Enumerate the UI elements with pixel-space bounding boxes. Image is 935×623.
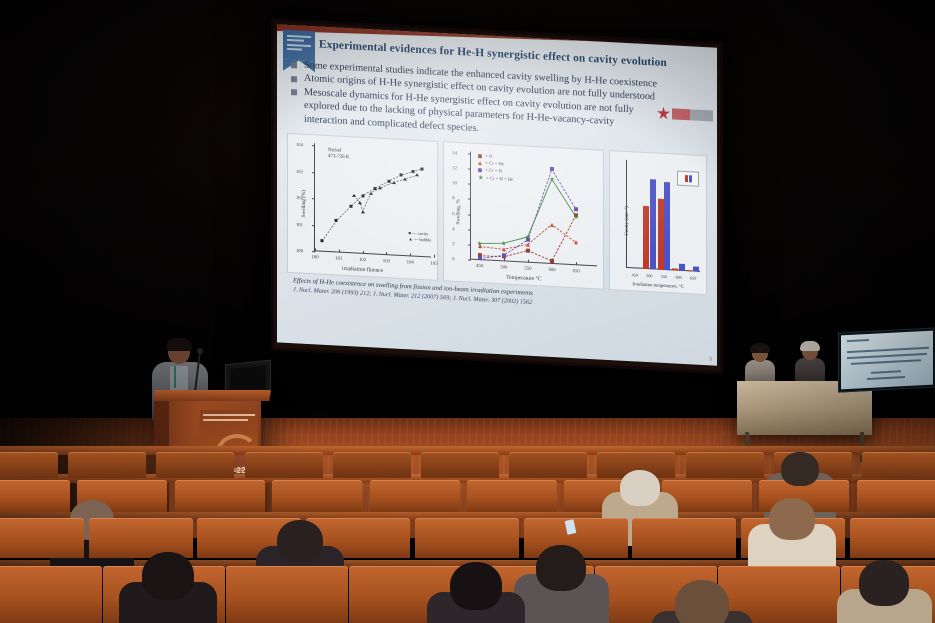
chart2-data-point	[526, 242, 530, 246]
chart2-data-point	[526, 238, 530, 242]
audience-seat	[333, 452, 411, 478]
chart3-bar	[679, 264, 685, 271]
banner-header-lines	[203, 414, 255, 426]
audience-seat	[175, 480, 265, 512]
chart3-x-tick: 550	[661, 274, 667, 279]
audience-seat	[857, 480, 935, 512]
chart2-data-point	[550, 222, 554, 226]
chart3-x-tick: 500	[646, 273, 652, 278]
chart2-data-point	[550, 259, 554, 263]
chart3-x-tick: 450	[632, 272, 638, 277]
audience-person-head	[781, 452, 819, 486]
chart2-data-point	[478, 256, 482, 260]
chart3-legend	[677, 171, 699, 187]
conference-photo: Experimental evidences for He-H synergis…	[0, 0, 935, 623]
chart1-data-point	[358, 201, 362, 204]
chart3-x-tick: 600	[675, 275, 681, 280]
audience-seat	[467, 480, 557, 512]
chart2-data-point	[502, 247, 506, 251]
chart1-data-point	[415, 174, 419, 177]
audience-seat	[862, 452, 935, 478]
chart3-y-label: Cavity (nm⁻³)	[624, 206, 630, 236]
presentation-slide: Experimental evidences for He-H synergis…	[277, 24, 717, 365]
audience-seat	[370, 480, 460, 512]
audience-seat	[509, 452, 587, 478]
chart-swelling-vs-fluence: Swelling (%) irradiation fluence Nickel4…	[287, 133, 438, 281]
chart3-bar	[643, 206, 649, 270]
chart2-data-point	[574, 240, 578, 244]
audience-seat	[0, 566, 102, 623]
chart1-data-point	[392, 181, 396, 184]
chart1-data-point	[378, 186, 382, 189]
chart3-bar	[664, 182, 670, 270]
podium-top-surface	[153, 390, 270, 401]
chart1-data-point	[369, 191, 373, 194]
audience-seat	[272, 480, 362, 512]
audience-person-head	[277, 520, 323, 562]
chart-cavity-bar: Cavity (nm⁻³) Irradiation temperature, °…	[609, 150, 707, 295]
chart2-data-point	[478, 244, 482, 248]
chart3-x-label: Irradiation temperature, °C	[610, 281, 706, 291]
chart1-data-point	[352, 194, 356, 197]
audience-seat	[68, 452, 146, 478]
audience-person-head	[675, 580, 729, 623]
chart3-bar	[672, 268, 678, 270]
audience-seat	[226, 566, 348, 623]
audience-seat	[632, 518, 736, 558]
chart3-bar	[650, 179, 656, 269]
projection-screen: Experimental evidences for He-H synergis…	[271, 18, 723, 374]
monitor-slide-content	[841, 331, 933, 390]
confidence-monitor	[838, 327, 935, 392]
chart-swelling-vs-temperature: Swelling, % Temperature °C + O+ Cr + He+…	[443, 141, 604, 290]
chart2-data-point	[574, 207, 578, 211]
audience-person-head	[859, 560, 909, 606]
audience-seat	[686, 452, 764, 478]
audience-person-head	[769, 498, 815, 540]
slide-figure-row: Swelling (%) irradiation fluence Nickel4…	[287, 133, 707, 295]
chart3-bar	[658, 198, 664, 270]
chart3-x-tick: 650	[690, 275, 696, 280]
audience-seat	[0, 480, 70, 512]
audience-seat	[850, 518, 935, 558]
audience-seat	[0, 452, 58, 478]
slide-page-number: 5	[709, 356, 712, 362]
audience-seat	[0, 518, 84, 558]
audience-seat	[415, 518, 519, 558]
audience-seat	[245, 452, 323, 478]
chart1-legend: ■ — cavity ▲ — bubble	[408, 230, 431, 243]
audience-seat	[89, 518, 193, 558]
audience-person-head	[620, 470, 660, 506]
chart3-bar	[687, 270, 693, 271]
audience-seat	[156, 452, 234, 478]
audience-person-head	[536, 545, 586, 591]
speaker-hair	[166, 338, 192, 351]
audience-person-head	[450, 562, 502, 610]
chart2-data-point	[550, 167, 554, 171]
chart2-data-point	[526, 248, 530, 252]
slide-bullet-list: Some experimental studies indicate the e…	[289, 59, 707, 148]
chart3-bar	[693, 266, 699, 271]
audience-seat	[421, 452, 499, 478]
chart1-data-point	[403, 177, 407, 180]
chart2-data-point	[502, 253, 506, 257]
chart1-data-point	[361, 210, 365, 213]
audience-person-head	[142, 552, 194, 600]
speaker-lanyard	[174, 366, 176, 388]
